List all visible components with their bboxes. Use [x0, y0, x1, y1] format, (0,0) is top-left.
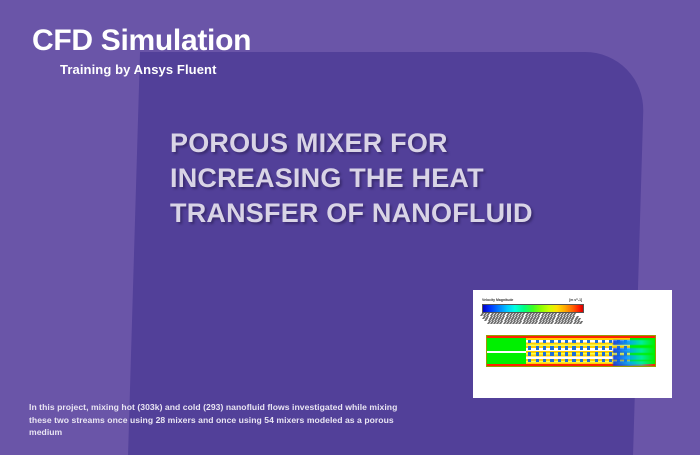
colorbar-units: [m s^-1]	[569, 298, 582, 302]
outlet-jet-plume	[613, 361, 655, 366]
mesh-cell	[579, 321, 583, 324]
mixer-obstacle	[587, 352, 590, 355]
mixer-obstacle	[587, 340, 590, 343]
mixer-obstacle	[595, 340, 598, 343]
mixer-obstacle	[528, 352, 531, 355]
mixer-obstacle	[602, 359, 605, 362]
mixer-obstacle	[558, 340, 561, 343]
mixer-obstacle	[587, 346, 590, 349]
mixer-obstacle	[536, 346, 539, 349]
mixer-obstacle	[558, 346, 561, 349]
mixer-obstacle	[609, 352, 612, 355]
mixer-obstacle	[565, 352, 568, 355]
mixer-obstacle	[595, 352, 598, 355]
outlet-jet-plume	[613, 348, 655, 353]
mixer-obstacle	[609, 340, 612, 343]
mixer-obstacle	[550, 352, 553, 355]
mixer-obstacle	[595, 346, 598, 349]
mixer-obstacle	[572, 340, 575, 343]
outlet-jet-plume	[613, 340, 655, 345]
mixer-obstacle	[602, 346, 605, 349]
mixer-obstacle	[565, 340, 568, 343]
mixer-obstacle	[580, 359, 583, 362]
mixer-obstacle	[558, 359, 561, 362]
colorbar-title: Velocity Magnitude	[482, 298, 513, 302]
mixer-obstacle	[550, 359, 553, 362]
mixer-obstacle	[565, 359, 568, 362]
cfd-result-image: Velocity Magnitude [m s^-1]	[473, 290, 672, 398]
mixer-obstacle	[550, 340, 553, 343]
mixer-obstacle	[572, 359, 575, 362]
brand-title: CFD Simulation	[32, 24, 251, 58]
mixer-obstacle	[602, 340, 605, 343]
mixer-obstacle	[536, 352, 539, 355]
page-title-line-2: INCREASING THE HEAT	[170, 161, 590, 196]
mixer-obstacle	[609, 346, 612, 349]
mixer-obstacle	[543, 346, 546, 349]
mixer-obstacle	[536, 340, 539, 343]
project-description: In this project, mixing hot (303k) and c…	[29, 401, 419, 439]
slide-canvas: CFD Simulation Training by Ansys Fluent …	[0, 0, 700, 455]
mixer-obstacle	[558, 352, 561, 355]
mesh-row	[488, 321, 583, 324]
mixer-obstacle	[528, 340, 531, 343]
mixer-obstacle	[580, 340, 583, 343]
mixer-obstacle	[587, 359, 590, 362]
page-title-line-1: POROUS MIXER FOR	[170, 126, 590, 161]
mixer-obstacle	[609, 359, 612, 362]
mixer-obstacle	[543, 359, 546, 362]
page-title: POROUS MIXER FOR INCREASING THE HEAT TRA…	[170, 126, 590, 231]
mixer-obstacle	[543, 352, 546, 355]
velocity-contour-plot	[486, 335, 656, 367]
mixer-obstacle	[543, 340, 546, 343]
mixer-obstacle	[536, 359, 539, 362]
brand-subtitle: Training by Ansys Fluent	[60, 62, 217, 77]
page-title-line-3: TRANSFER OF NANOFLUID	[170, 196, 590, 231]
mixer-obstacle	[565, 346, 568, 349]
mixer-obstacle	[580, 352, 583, 355]
outlet-jet-plume	[613, 355, 655, 360]
mixer-obstacle	[595, 359, 598, 362]
mixer-obstacle	[580, 346, 583, 349]
mixer-obstacle	[572, 346, 575, 349]
geometry-mesh-view	[481, 313, 589, 327]
mixer-obstacle	[572, 352, 575, 355]
mixer-obstacle	[602, 352, 605, 355]
velocity-colorbar	[482, 304, 584, 313]
mixer-obstacle	[528, 346, 531, 349]
mixer-obstacle	[528, 359, 531, 362]
mixer-obstacle	[550, 346, 553, 349]
